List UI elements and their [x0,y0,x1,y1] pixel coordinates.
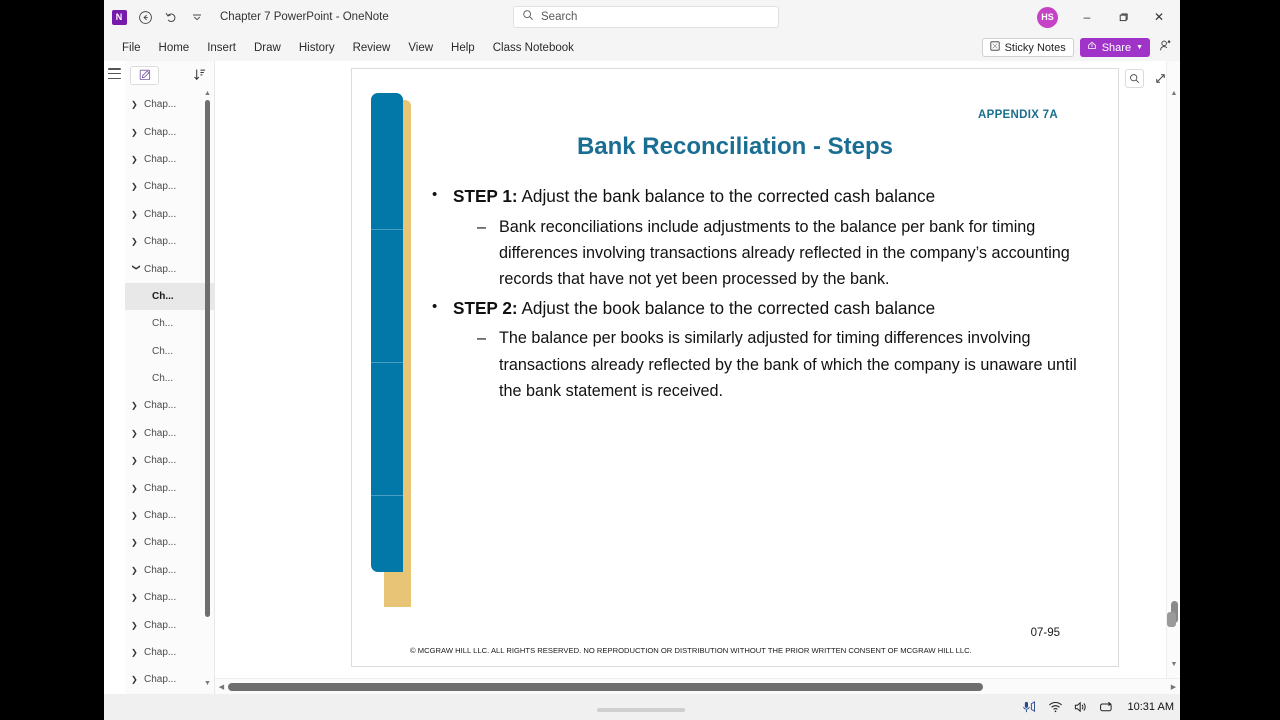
maximize-button[interactable] [1106,2,1140,32]
dash-marker-icon: – [477,214,499,293]
tab-file[interactable]: File [113,39,150,57]
page-list-item[interactable]: ❯Chap... [125,146,214,173]
taskbar-clock[interactable]: 10:31 AM [1128,701,1174,713]
slide-bullet-level-2: –Bank reconciliations include adjustment… [477,214,1082,293]
ribbon-tabs: File Home Insert Draw History Review Vie… [104,34,1180,61]
screen: N Chapter 7 PowerPoint - OneNote [0,0,1280,720]
page-list-item[interactable]: ❯Chap... [125,447,214,474]
canvas-scroll-left-icon[interactable]: ◀ [215,679,228,695]
window-title: Chapter 7 PowerPoint - OneNote [220,11,389,23]
chevron-right-icon[interactable]: ❯ [131,100,142,109]
sticky-notes-label: Sticky Notes [1005,42,1066,54]
page-list[interactable]: ❯Chap...❯Chap...❯Chap...❯Chap...❯Chap...… [125,89,214,694]
search-placeholder: Search [541,11,577,23]
share-icon [1087,41,1097,54]
page-list-item-label: Ch... [152,346,173,357]
slide-bullet-body: Adjust the bank balance to the corrected… [518,186,936,206]
decorative-blue-bar [371,93,403,572]
page-list-item-label: Chap... [144,236,176,247]
title-bar-left-controls: N Chapter 7 PowerPoint - OneNote [104,4,389,30]
page-list-item-label: Chap... [144,181,176,192]
undo-icon[interactable] [158,4,184,30]
page-list-item[interactable]: ❯Chap... [125,557,214,584]
tab-history[interactable]: History [290,39,344,57]
search-container: Search [513,6,779,28]
onenote-logo-glyph: N [112,10,127,25]
page-list-item-label: Chap... [144,455,176,466]
page-list-item[interactable]: Ch... [125,338,214,365]
page-list-item[interactable]: ❯Chap... [125,118,214,145]
slide-bullet-text: The balance per books is similarly adjus… [499,325,1082,404]
chevron-right-icon[interactable]: ❯ [131,621,142,630]
page-list-item-label: Chap... [144,127,176,138]
avatar[interactable]: HS [1037,7,1058,28]
copyright-notice: © MCGRAW HILL LLC. ALL RIGHTS RESERVED. … [410,646,1098,655]
expand-diagonal-icon[interactable] [1151,69,1170,88]
chevron-right-icon[interactable]: ❯ [131,429,142,438]
tab-insert[interactable]: Insert [198,39,245,57]
slide-bullet-label: STEP 1: [453,186,518,206]
slide-bullet-body: Bank reconciliations include adjustments… [499,218,1070,288]
chevron-down-icon[interactable]: ❯ [132,264,141,275]
page-side-handle[interactable] [1167,612,1176,627]
page-list-item-label: Chap... [144,510,176,521]
slide-bullet-text: Bank reconciliations include adjustments… [499,214,1082,293]
tab-view[interactable]: View [399,39,442,57]
wifi-icon[interactable] [1048,701,1063,713]
page-list-item[interactable]: ❯Chap... [125,255,214,282]
page-list-scroll-thumb[interactable] [205,100,210,617]
tab-draw[interactable]: Draw [245,39,290,57]
page-list-scrollbar[interactable]: ▲ ▼ [203,89,212,678]
search-icon [522,8,534,26]
onenote-window: N Chapter 7 PowerPoint - OneNote [104,0,1180,694]
page-list-item[interactable]: ❯Chap... [125,228,214,255]
page-list-item[interactable]: ❯Chap... [125,474,214,501]
page-list-item-label: Chap... [144,565,176,576]
tab-help[interactable]: Help [442,39,484,57]
chevron-right-icon[interactable]: ❯ [131,566,142,575]
slide-title: Bank Reconciliation - Steps [352,133,1118,161]
page-list-item-label: Ch... [152,291,174,302]
speaker-icon[interactable] [1074,701,1088,713]
new-page-icon[interactable] [130,66,159,85]
slide-body: •STEP 1: Adjust the bank balance to the … [428,181,1082,404]
chevron-right-icon[interactable]: ❯ [131,511,142,520]
page-list-item-label: Chap... [144,537,176,548]
slide-bullet-body: Adjust the book balance to the corrected… [518,298,936,318]
chevron-right-icon[interactable]: ❯ [131,648,142,657]
page-list-item[interactable]: ❯Chap... [125,173,214,200]
bullet-marker-icon: • [428,183,453,211]
minimize-button[interactable]: – [1070,2,1104,32]
window-controls: HS – ✕ [1037,0,1176,34]
chevron-right-icon[interactable]: ❯ [131,593,142,602]
page-list-item-label: Chap... [144,264,176,275]
share-chevron-down-icon: ▼ [1136,44,1143,51]
canvas-scroll-up-icon[interactable]: ▲ [1167,87,1180,100]
back-circle-icon[interactable] [132,4,158,30]
ribbon-right-actions: Sticky Notes Share ▼ [982,34,1174,61]
share-button[interactable]: Share ▼ [1080,38,1150,57]
page-list-item[interactable]: Ch... [125,310,214,337]
sort-icon[interactable] [191,66,207,84]
page-list-toolbar [125,61,214,89]
chevron-right-icon[interactable]: ❯ [131,182,142,191]
page-list-item[interactable]: ❯Chap... [125,502,214,529]
page-list-item[interactable]: ❯Chap... [125,529,214,556]
slide-bullet-body: The balance per books is similarly adjus… [499,329,1077,399]
canvas-horizontal-scroll-thumb[interactable] [228,683,983,691]
page-list-item-label: Chap... [144,483,176,494]
page-list-item[interactable]: ❯Chap... [125,392,214,419]
battery-icon[interactable] [1099,701,1114,713]
page-list-item-label: Chap... [144,154,176,165]
appendix-label: APPENDIX 7A [978,109,1058,121]
tab-home[interactable]: Home [150,39,199,57]
canvas-horizontal-scrollbar[interactable]: ◀ ▶ [215,678,1180,694]
slide-bullet-level-2: –The balance per books is similarly adju… [477,325,1082,404]
chevron-right-icon[interactable]: ❯ [131,675,142,684]
close-button[interactable]: ✕ [1142,2,1176,32]
page-list-item-label: Chap... [144,592,176,603]
title-bar: N Chapter 7 PowerPoint - OneNote [104,0,1180,34]
slide-page-number: 07-95 [1031,627,1060,639]
bullet-marker-icon: • [428,295,453,323]
sticky-note-icon [990,41,1000,54]
page-list-sidebar: ❯Chap...❯Chap...❯Chap...❯Chap...❯Chap...… [125,61,215,694]
slide-bullet-level-1: •STEP 2: Adjust the book balance to the … [428,295,1082,323]
microphone-icon[interactable] [1022,701,1037,714]
page-list-item-label: Chap... [144,674,176,685]
canvas-scroll-down-icon[interactable]: ▼ [1167,658,1180,671]
page-list-item-label: Chap... [144,647,176,658]
tab-review[interactable]: Review [344,39,400,57]
pin-icon[interactable] [1156,39,1174,56]
canvas-scroll-right-icon[interactable]: ▶ [1167,679,1180,695]
tab-class-notebook[interactable]: Class Notebook [484,39,583,57]
page-list-item[interactable]: ❯Chap... [125,420,214,447]
onenote-app-icon[interactable]: N [106,4,132,30]
slide-bullet-text: STEP 2: Adjust the book balance to the c… [453,295,935,323]
scroll-up-arrow-icon[interactable]: ▲ [203,89,212,98]
chevron-right-icon[interactable]: ❯ [131,210,142,219]
page-list-item-label: Chap... [144,99,176,110]
app-body: ❯Chap...❯Chap...❯Chap...❯Chap...❯Chap...… [104,61,1180,694]
page-list-item[interactable]: Ch... [125,365,214,392]
dash-marker-icon: – [477,325,499,404]
page-list-item[interactable]: ❯Chap... [125,611,214,638]
sticky-notes-button[interactable]: Sticky Notes [982,38,1074,57]
chevron-right-icon[interactable]: ❯ [131,155,142,164]
page-list-item-label: Chap... [144,428,176,439]
chevron-right-icon[interactable]: ❯ [131,484,142,493]
page-list-item-label: Ch... [152,318,173,329]
slide-page[interactable]: APPENDIX 7A Bank Reconciliation - Steps … [351,68,1119,667]
page-list-item[interactable]: ❯Chap... [125,91,214,118]
taskbar: 10:31 AM [104,694,1180,720]
scroll-down-arrow-icon[interactable]: ▼ [203,679,212,688]
chevron-right-icon[interactable]: ❯ [131,538,142,547]
chevron-right-icon[interactable]: ❯ [131,128,142,137]
canvas-vertical-scrollbar[interactable]: ▲ ▼ [1166,61,1180,678]
share-label: Share [1102,42,1131,54]
canvas-tools [1125,69,1170,88]
page-list-item[interactable]: ❯Chap... [125,584,214,611]
slide-bullet-level-1: •STEP 1: Adjust the bank balance to the … [428,183,1082,211]
canvas-hscroll-track[interactable] [228,679,1167,695]
search-input[interactable]: Search [513,6,779,28]
chevron-right-icon[interactable]: ❯ [131,401,142,410]
hamburger-menu-icon[interactable] [108,68,121,79]
page-list-item[interactable]: Ch... [125,283,214,310]
slide-bullet-text: STEP 1: Adjust the bank balance to the c… [453,183,935,211]
page-list-item-label: Chap... [144,620,176,631]
navigation-toggle-column [104,61,125,694]
page-list-item[interactable]: ❯Chap... [125,666,214,693]
touch-indicator-bar [597,708,685,712]
page-list-item[interactable]: ❯Chap... [125,201,214,228]
page-search-icon[interactable] [1125,69,1144,88]
quick-access-chevron-down-icon[interactable] [184,4,210,30]
note-canvas: APPENDIX 7A Bank Reconciliation - Steps … [215,61,1180,694]
slide-bullet-label: STEP 2: [453,298,518,318]
page-list-item-label: Chap... [144,209,176,220]
chevron-right-icon[interactable]: ❯ [131,237,142,246]
page-list-item-label: Ch... [152,373,173,384]
page-list-item[interactable]: ❯Chap... [125,639,214,666]
chevron-right-icon[interactable]: ❯ [131,456,142,465]
page-list-item-label: Chap... [144,400,176,411]
